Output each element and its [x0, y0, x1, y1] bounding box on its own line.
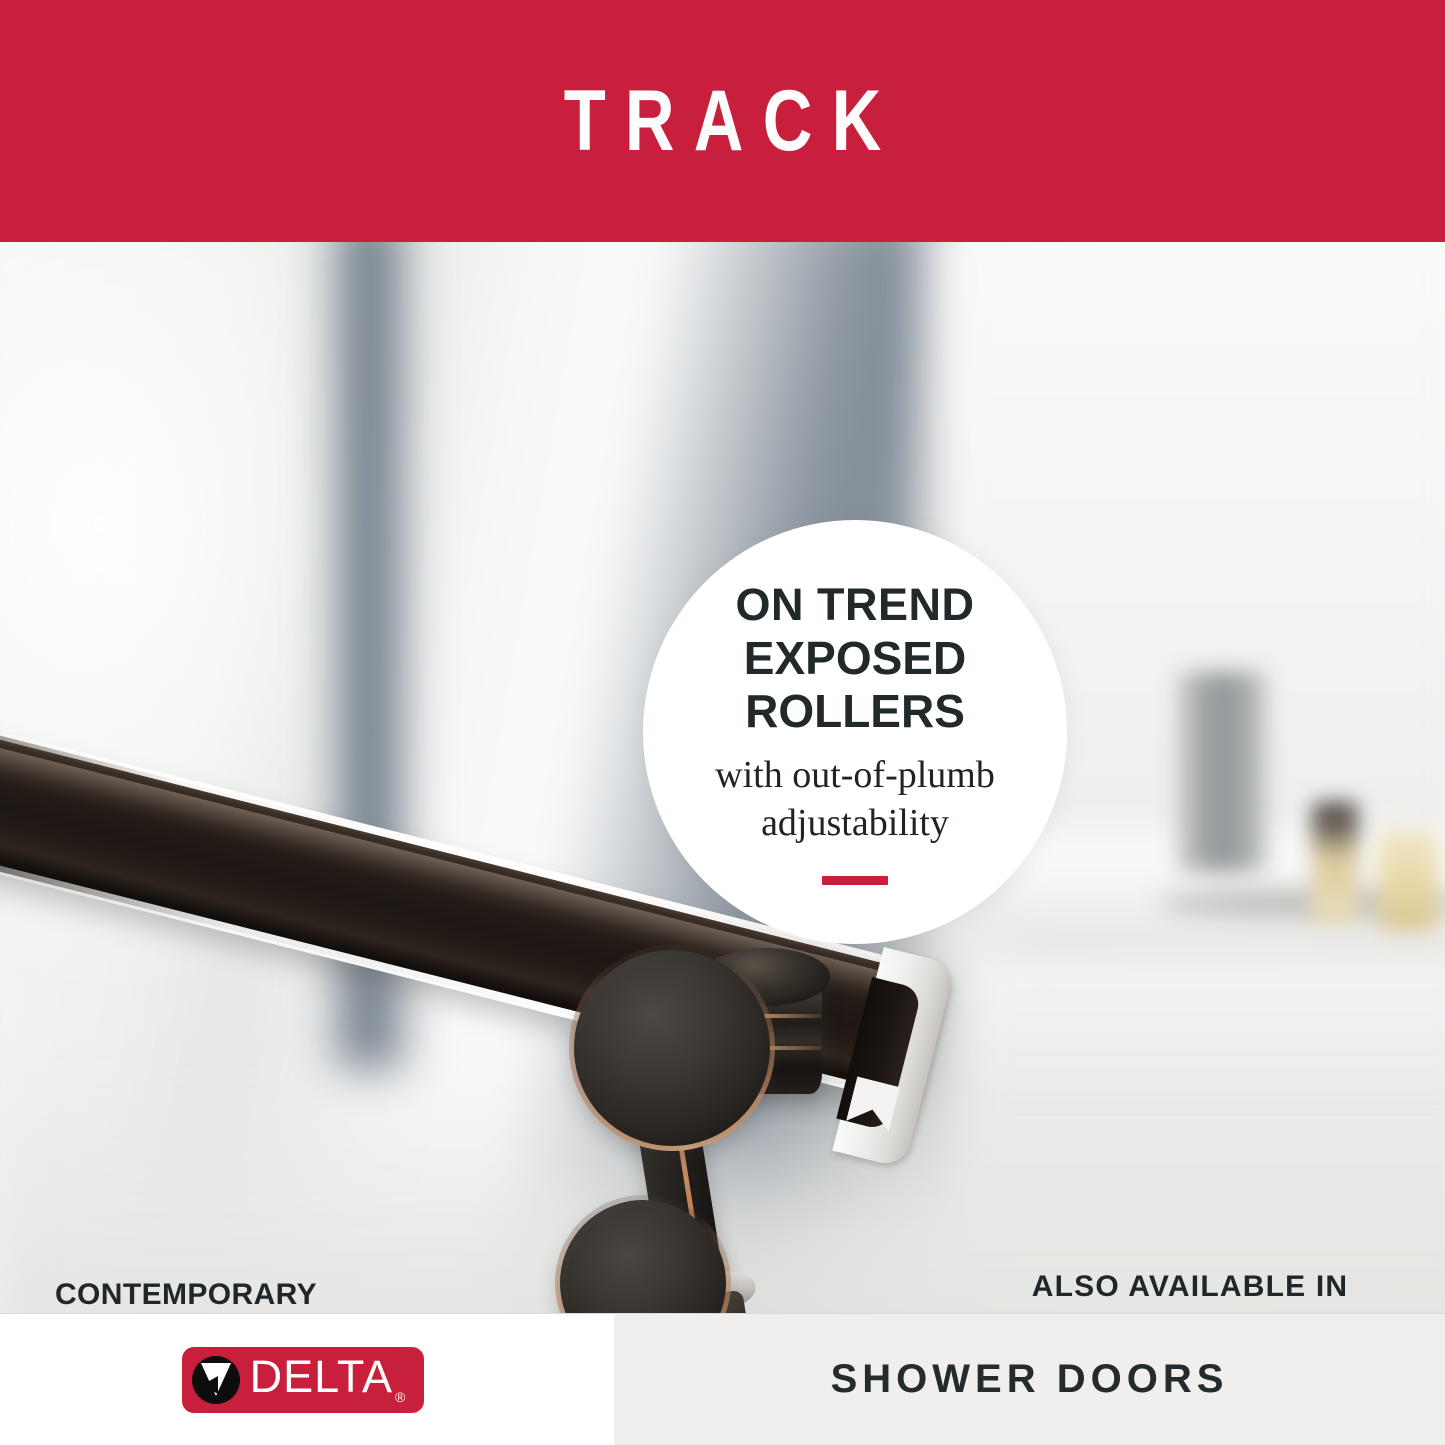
delta-wordmark: DELTA® [250, 1354, 407, 1404]
badge-headline-line1: ON TREND [675, 579, 1035, 632]
background-canister [1178, 672, 1266, 872]
finishes-title: ALSO AVAILABLE IN [955, 1270, 1425, 1304]
background-bottle-cream [1378, 830, 1438, 930]
footer-brand-panel: DELTA® [0, 1314, 614, 1445]
delta-wordmark-text: DELTA [250, 1351, 393, 1402]
delta-logo[interactable]: DELTA® [182, 1347, 425, 1413]
product-caption-line1: CONTEMPORARY [36, 1275, 336, 1313]
page-title: TRACK [545, 78, 901, 164]
delta-triangle-icon [192, 1356, 240, 1404]
available-finishes: ALSO AVAILABLE IN CHROME BRUSHED NICKEL [955, 1270, 1425, 1313]
badge-subhead-line2: adjustability [675, 800, 1035, 848]
background-bottle-amber [1312, 802, 1358, 922]
footer-tagline-panel: SHOWER DOORS [614, 1314, 1445, 1445]
badge-headline: ON TREND EXPOSED ROLLERS [675, 579, 1035, 739]
feature-callout-badge: ON TREND EXPOSED ROLLERS with out-of-plu… [643, 520, 1067, 944]
registered-trademark-icon: ® [395, 1389, 406, 1405]
badge-subhead: with out-of-plumb adjustability [675, 752, 1035, 847]
header-banner: TRACK [0, 0, 1445, 242]
footer-tagline: SHOWER DOORS [831, 1357, 1229, 1402]
footer-bar: DELTA® SHOWER DOORS [0, 1313, 1445, 1445]
product-caption: CONTEMPORARY TRACK IN BRONZE [36, 1275, 336, 1313]
badge-headline-line2: EXPOSED ROLLERS [675, 632, 1035, 740]
product-photo: ON TREND EXPOSED ROLLERS with out-of-plu… [0, 242, 1445, 1313]
badge-subhead-line1: with out-of-plumb [675, 752, 1035, 800]
product-marketing-image: TRACK [0, 0, 1445, 1445]
exposed-roller-assembly [560, 942, 860, 1313]
badge-red-rule [822, 876, 888, 885]
roller-disc-top-face [582, 958, 762, 1138]
